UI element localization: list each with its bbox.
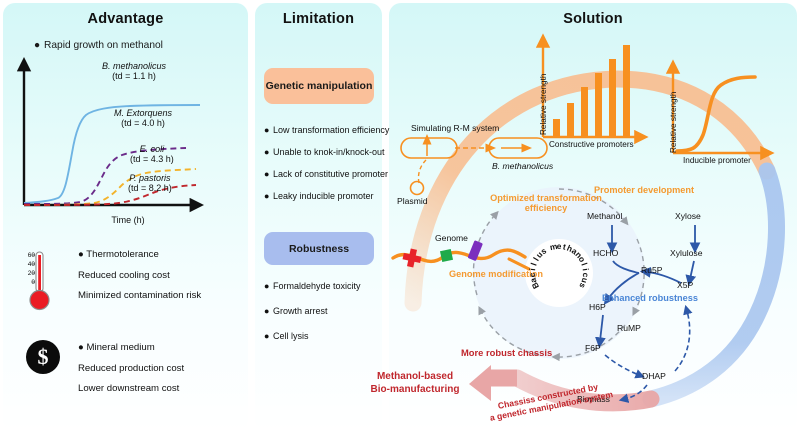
pathway-node-xylulose: Xylulose	[670, 248, 702, 258]
bullet-dot-icon: ●	[264, 331, 273, 341]
curve-label-e-coli: E. coli (td = 4.3 h)	[130, 144, 174, 164]
advantage-bullet-label: Rapid growth on methanol	[44, 40, 163, 51]
tag-genetic-manipulation: Genetic manipulation	[264, 68, 374, 104]
thermometer-icon: 60 40 20 0	[22, 250, 66, 312]
bullet-dot-icon: ●	[34, 40, 44, 51]
growth-chart-xlabel: Time (h)	[68, 215, 188, 225]
promoter-chart-ylabel: Relative strength	[539, 74, 548, 135]
advantage-bullet: ●Rapid growth on methanol	[34, 40, 163, 51]
thermotolerance-bullet: ● Thermotolerance	[78, 250, 201, 260]
bullet-dot-icon: ●	[264, 306, 273, 316]
pathway-node-dhap: DHAP	[642, 371, 666, 381]
robustness-item-2: ●Growth arrest	[264, 306, 328, 316]
limitation-item-1: ●Low transformation efficiency	[264, 125, 389, 135]
cost-benefit-1: Reduced production cost	[78, 364, 184, 374]
limitation-item-2: ●Unable to knok-in/knock-out	[264, 147, 385, 157]
curve-label-m-extorquens: M. Extorquens (td = 4.0 h)	[114, 108, 172, 128]
bullet-dot-icon: ●	[264, 125, 273, 135]
bullet-dot-icon: ●	[264, 191, 273, 201]
dollar-icon: $	[26, 340, 60, 374]
label-simulating-rm-system: Simulating R-M system	[411, 123, 499, 133]
pathway-node-f6p: F6P	[585, 343, 601, 353]
pathway-node-methanol: Methanol	[587, 211, 622, 221]
curve-label-p-pastoris: P. pastoris (td = 8.2 h)	[128, 173, 172, 193]
pathway-node-hcho: HCHO	[593, 248, 618, 258]
bullet-dot-icon: ●	[264, 169, 273, 179]
limitation-item-3: ●Lack of constitutive promoter	[264, 169, 388, 179]
pathway-name-rump: RuMP	[617, 323, 641, 333]
pathway-node-h6p: H6P	[589, 302, 606, 312]
cycle-step-enhanced-robustness: Enhanced robustness	[602, 293, 698, 303]
panel-title-limitation: Limitation	[255, 11, 382, 27]
limitation-item-4: ●Leaky inducible promoter	[264, 191, 374, 201]
cost-benefit-2: Lower downstream cost	[78, 384, 184, 394]
tag-robustness: Robustness	[264, 232, 374, 265]
panel-title-advantage: Advantage	[3, 11, 248, 27]
mineral-medium-bullet: ● Mineral medium	[78, 343, 184, 353]
growth-curve-chart: OD600 (h) Time (h) B. methanolicus (td =	[10, 55, 235, 227]
promoter-chart-xlabel: Constructive promoters	[549, 140, 634, 149]
cycle-step-more-robust-chassis: More robust chassis	[461, 347, 552, 358]
inducible-chart-xlabel: Inducible promoter	[683, 156, 751, 165]
curve-label-b-methanolicus: B. methanolicus (td = 1.1 h)	[102, 61, 166, 81]
robustness-item-1: ●Formaldehyde toxicity	[264, 281, 361, 291]
label-b-methanolicus-cell: B. methanolicus	[492, 161, 553, 171]
pathway-node-ru5p: Ru5P	[641, 265, 663, 275]
figure-root: Advantage Limitation Solution ●Rapid gro…	[0, 0, 800, 435]
pathway-node-xylose: Xylose	[675, 211, 701, 221]
label-plasmid: Plasmid	[397, 196, 428, 206]
cycle-step-promoter-development: Promoter development	[594, 185, 694, 195]
thermo-benefit-2: Minimized contamination risk	[78, 291, 201, 301]
thermotolerance-block: ● Thermotolerance Reduced cooling cost M…	[78, 250, 201, 301]
cost-block: ● Mineral medium Reduced production cost…	[78, 343, 184, 394]
bullet-dot-icon: ●	[78, 249, 84, 260]
inducible-chart-ylabel: Relative strength	[669, 92, 678, 153]
thermo-benefit-1: Reduced cooling cost	[78, 271, 201, 281]
pathway-node-x5p: X5P	[677, 280, 693, 290]
solution-labels: Simulating R-M system B. methanolicus Pl…	[389, 3, 797, 432]
label-genome: Genome	[435, 233, 468, 243]
bullet-dot-icon: ●	[264, 281, 273, 291]
outcome-title: Methanol-based Bio-manufacturing	[355, 370, 475, 396]
bullet-dot-icon: ●	[264, 147, 273, 157]
bullet-dot-icon: ●	[78, 342, 84, 353]
robustness-item-3: ●Cell lysis	[264, 331, 309, 341]
